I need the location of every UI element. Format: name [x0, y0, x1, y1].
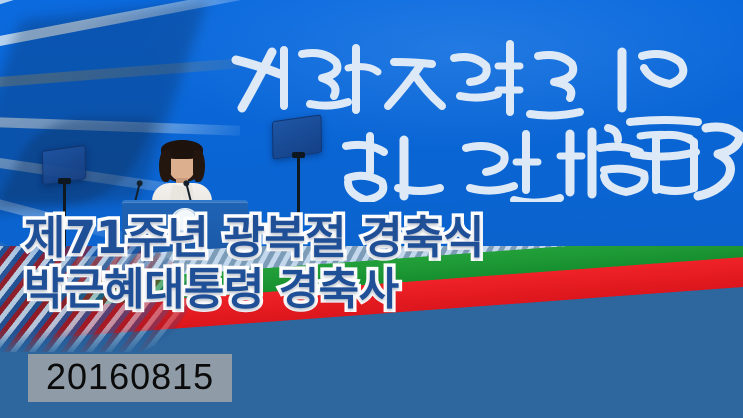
teleprompter-pole [297, 156, 300, 242]
date-badge: 20160815 [28, 354, 232, 402]
korean-calligraphy [198, 22, 743, 202]
decorative-band-zone [0, 246, 743, 366]
government-seal-emblem [170, 208, 200, 238]
video-thumbnail: 제71주년 광복절 경축식 박근혜대통령 경축사 20160815 [0, 0, 743, 418]
stage-backdrop [0, 0, 743, 268]
speaker-hair-left [159, 150, 171, 182]
speaker-hair-right [193, 150, 205, 182]
teleprompter-pole [63, 182, 66, 248]
